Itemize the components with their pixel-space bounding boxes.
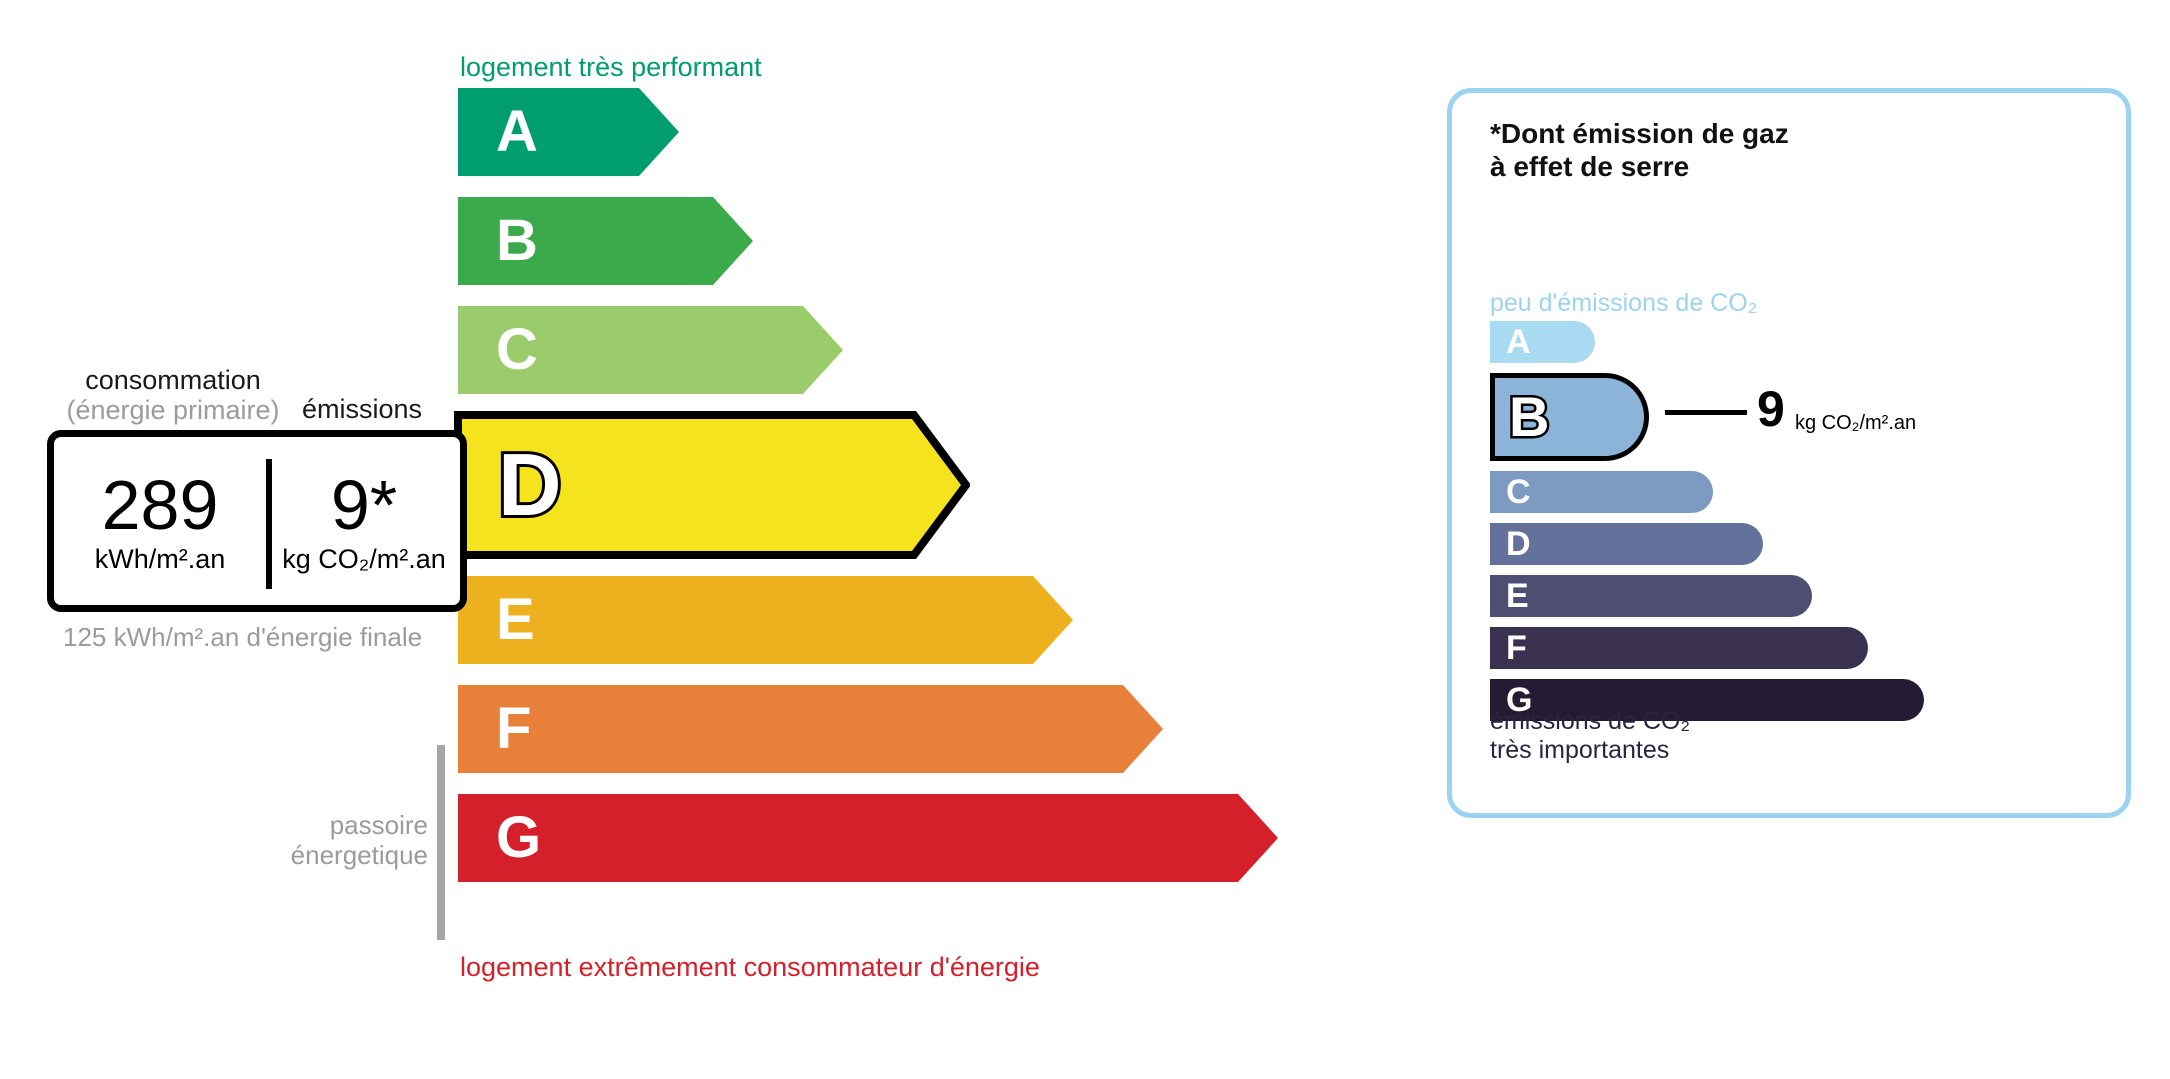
emission-unit: kg CO₂/m².an <box>282 546 446 573</box>
energy-band-shape-a <box>458 88 679 176</box>
energy-performance-chart: logement très performant ABCDEFG 289 kWh… <box>0 0 1400 1079</box>
consumption-cell: 289 kWh/m².an <box>54 437 266 605</box>
passoire-marker-bar <box>437 745 445 940</box>
energy-band-shape-g <box>458 794 1278 882</box>
emission-cell: 9* kg CO₂/m².an <box>268 437 460 605</box>
passoire-label: passoire énergetique <box>250 810 428 870</box>
consumption-label-main: consommation <box>85 365 261 395</box>
ges-bar-a: A <box>1490 321 1595 363</box>
energy-band-g: G <box>458 794 1278 882</box>
ges-bar-b: B <box>1490 373 1649 461</box>
ges-bar-letter-e: E <box>1506 579 1529 613</box>
ges-bar-c: C <box>1490 471 1713 513</box>
energy-band-stack: ABCDEFG <box>458 88 1278 938</box>
ges-bottom-caption: émissions de CO₂ très importantes <box>1490 707 1690 765</box>
energy-value-box: 289 kWh/m².an 9* kg CO₂/m².an <box>47 430 467 612</box>
consumption-value: 289 <box>102 470 219 540</box>
ges-bar-stack: ABCDEFG9kg CO₂/m².an <box>1490 321 2110 701</box>
consumption-label: consommation (énergie primaire) <box>63 365 283 425</box>
energy-band-f: F <box>458 685 1163 773</box>
energy-band-c: C <box>458 306 843 394</box>
ges-top-caption: peu d'émissions de CO₂ <box>1490 289 1757 318</box>
ges-title: *Dont émission de gaz à effet de serre <box>1490 117 1789 183</box>
emissions-label: émissions <box>302 394 422 425</box>
ges-bar-letter-b: B <box>1509 389 1549 445</box>
energy-band-shape-e <box>458 576 1073 664</box>
ges-callout-value: 9 <box>1757 384 1785 434</box>
ges-bar-e: E <box>1490 575 1812 617</box>
ges-bar-d: D <box>1490 523 1763 565</box>
energy-bottom-caption: logement extrêmement consommateur d'éner… <box>460 952 1040 983</box>
energy-band-a: A <box>458 88 679 176</box>
ges-bar-letter-d: D <box>1506 527 1531 561</box>
consumption-unit: kWh/m².an <box>95 546 226 573</box>
energy-band-shape-d <box>454 411 970 559</box>
ges-bar-letter-a: A <box>1506 325 1531 359</box>
ges-bar-f: F <box>1490 627 1868 669</box>
energy-top-caption: logement très performant <box>460 52 762 83</box>
emission-value: 9* <box>331 470 397 540</box>
final-energy-note: 125 kWh/m².an d'énergie finale <box>63 622 422 652</box>
energy-band-d: D <box>458 415 966 555</box>
ges-panel: *Dont émission de gaz à effet de serre p… <box>1447 88 2131 818</box>
energy-band-shape-c <box>458 306 843 394</box>
ges-bar-letter-f: F <box>1506 631 1527 665</box>
energy-band-shape-f <box>458 685 1163 773</box>
energy-band-e: E <box>458 576 1073 664</box>
ges-bar-letter-c: C <box>1506 475 1531 509</box>
consumption-label-sub: (énergie primaire) <box>63 395 283 425</box>
energy-band-shape-b <box>458 197 753 285</box>
ges-callout-line <box>1665 410 1747 415</box>
ges-callout-unit: kg CO₂/m².an <box>1795 413 1916 433</box>
energy-band-b: B <box>458 197 753 285</box>
